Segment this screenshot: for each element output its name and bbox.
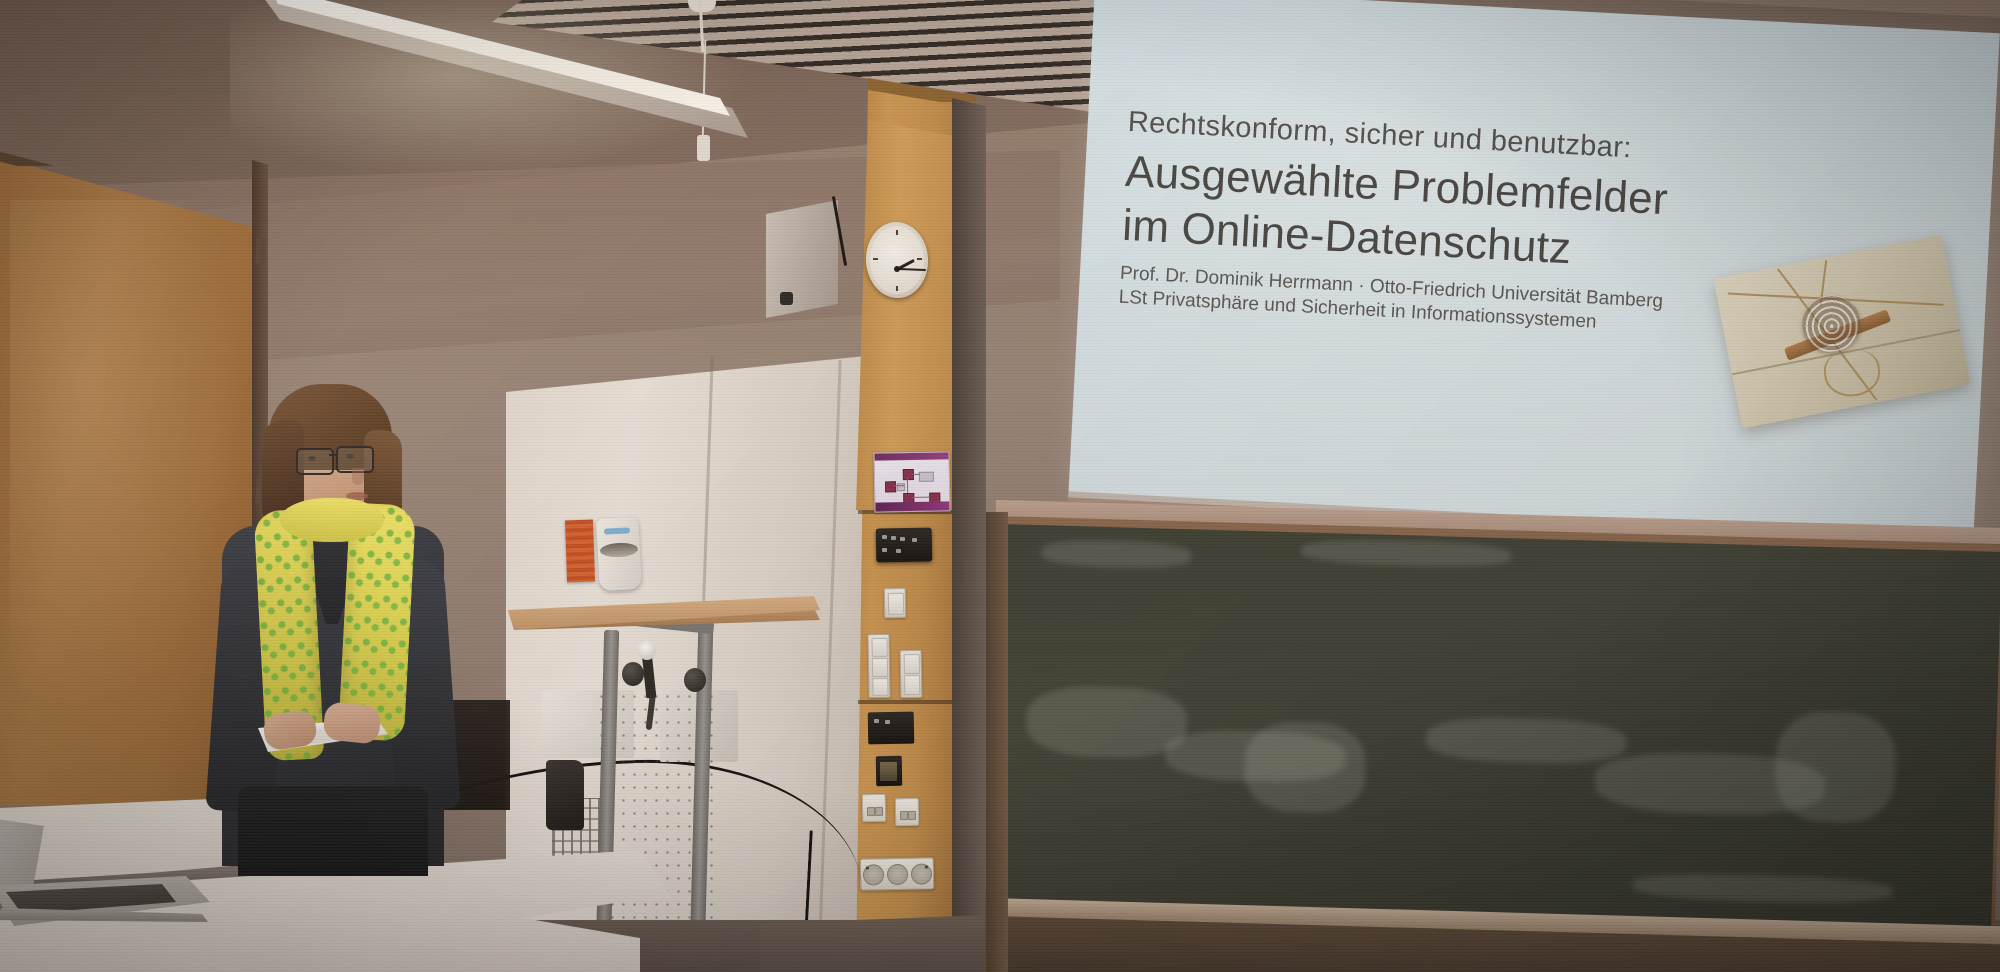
- panel-button[interactable]: [896, 549, 901, 553]
- box-indicator: [885, 720, 890, 724]
- switch-rocker[interactable]: [904, 654, 920, 674]
- poster-footer-band: [875, 501, 949, 511]
- panel-button[interactable]: [900, 537, 905, 541]
- green-chalkboard[interactable]: [991, 524, 2000, 958]
- nose: [352, 468, 364, 485]
- hanging-plug: [697, 135, 710, 161]
- clock-center-pin: [894, 266, 900, 272]
- projection-screen: Rechtskonform, sicher und benutzbar: Aus…: [1067, 0, 2000, 573]
- poster-link: [894, 485, 904, 486]
- light-switch-double[interactable]: [900, 650, 923, 698]
- jack-port[interactable]: [908, 811, 916, 820]
- clock-tick: [917, 258, 922, 260]
- panel-button[interactable]: [882, 535, 887, 539]
- av-control-panel[interactable]: [876, 528, 933, 563]
- poster-node: [919, 472, 934, 482]
- eyeglasses-lens-left: [296, 448, 334, 475]
- jack-port[interactable]: [867, 807, 875, 816]
- chalk-smudge: [1041, 539, 1192, 569]
- door-highlight: [10, 200, 240, 720]
- chalk-smudge: [1426, 716, 1627, 766]
- microphone-head-icon: [638, 640, 656, 660]
- scarf-neck-loop: [280, 498, 384, 542]
- panel-button[interactable]: [891, 536, 896, 540]
- chalk-smudge: [1632, 872, 1893, 905]
- clock-face: [870, 226, 924, 294]
- network-wall-jack[interactable]: [895, 798, 919, 826]
- clock-tick: [896, 230, 898, 235]
- poster-header-band: [874, 452, 948, 460]
- column-side-shadow: [952, 98, 986, 972]
- presenter: [236, 386, 476, 866]
- door-hinge: [255, 238, 265, 264]
- chalk-smudge: [1026, 685, 1188, 759]
- network-wall-jack[interactable]: [862, 794, 886, 822]
- power-socket[interactable]: [910, 863, 931, 884]
- black-connection-box[interactable]: [868, 712, 915, 745]
- chalk-smudge: [1301, 538, 1512, 568]
- chalk-smudge: [1244, 721, 1366, 814]
- skirt: [238, 786, 428, 876]
- clock-tick: [896, 286, 898, 291]
- network-diagram-poster: [873, 451, 950, 512]
- light-switch[interactable]: [884, 588, 907, 618]
- panel-button[interactable]: [912, 538, 917, 542]
- board-side-post: [986, 512, 1008, 972]
- poster-node: [885, 481, 896, 492]
- orange-notice-sheet: [565, 520, 595, 583]
- switch-rocker[interactable]: [872, 678, 888, 696]
- lectern-adjust-knob[interactable]: [622, 662, 644, 686]
- eyeglasses-bridge: [329, 454, 338, 456]
- box-indicator: [874, 719, 879, 723]
- light-switch-triple[interactable]: [867, 634, 890, 698]
- lectern-adjust-knob[interactable]: [684, 668, 706, 692]
- hand-right: [322, 701, 382, 745]
- dark-bag: [546, 760, 584, 830]
- socket-insert: [880, 762, 897, 781]
- jack-port[interactable]: [875, 807, 883, 816]
- speaker-driver-icon: [780, 292, 793, 305]
- lecture-room-photo: Rechtskonform, sicher und benutzbar: Aus…: [0, 0, 2000, 972]
- switch-rocker[interactable]: [872, 658, 888, 677]
- chalk-smudge: [1774, 711, 1897, 824]
- poster-link: [907, 478, 908, 493]
- switch-rocker[interactable]: [904, 675, 920, 695]
- clock-tick: [873, 258, 878, 260]
- switch-rocker[interactable]: [872, 638, 888, 657]
- wall-speaker-icon: [766, 200, 838, 318]
- jack-port[interactable]: [900, 811, 908, 820]
- poster-link: [912, 497, 930, 498]
- power-socket[interactable]: [886, 863, 907, 884]
- panel-button[interactable]: [882, 548, 887, 552]
- poster-link: [912, 474, 920, 475]
- switch-rocker[interactable]: [888, 593, 904, 615]
